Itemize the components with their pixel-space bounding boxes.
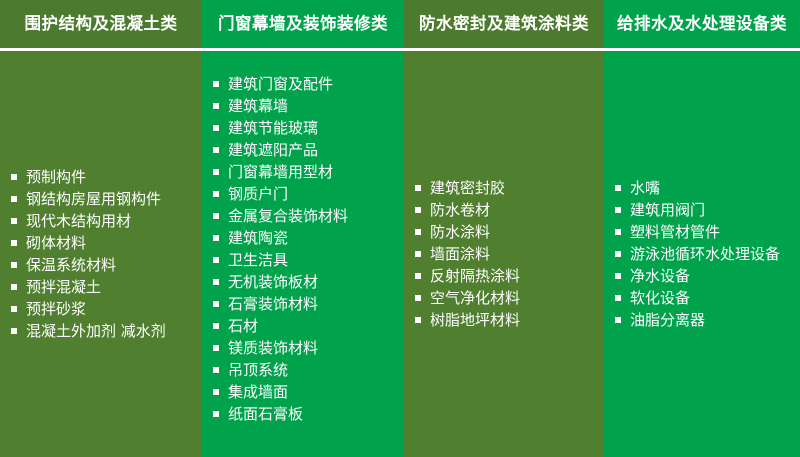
list-item-label: 树脂地坪材料 xyxy=(430,311,520,329)
square-bullet-icon xyxy=(213,169,219,175)
list-item-label: 防水涂料 xyxy=(430,223,490,241)
column-title: 给排水及水处理设备类 xyxy=(617,15,787,33)
list-item-label: 预拌砂浆 xyxy=(26,300,86,318)
column-header-3[interactable]: 给排水及水处理设备类 xyxy=(604,0,800,48)
list-item[interactable]: 软化设备 xyxy=(614,287,794,309)
category-board: 围护结构及混凝土类预制构件钢结构房屋用钢构件现代木结构用材砌体材料保温系统材料预… xyxy=(0,0,800,457)
category-item-list: 建筑门窗及配件建筑幕墙建筑节能玻璃建筑遮阳产品门窗幕墙用型材钢质户门金属复合装饰… xyxy=(212,73,398,425)
list-item-label: 混凝土外加剂 减水剂 xyxy=(26,322,166,340)
column-title: 门窗幕墙及装饰装修类 xyxy=(218,15,388,33)
list-item-label: 建筑密封胶 xyxy=(430,179,505,197)
square-bullet-icon xyxy=(213,389,219,395)
category-column-2: 防水密封及建筑涂料类建筑密封胶防水卷材防水涂料墙面涂料反射隔热涂料空气净化材料树… xyxy=(404,0,604,457)
list-item[interactable]: 防水卷材 xyxy=(414,199,598,221)
list-item[interactable]: 水嘴 xyxy=(614,177,794,199)
list-item-label: 金属复合装饰材料 xyxy=(228,207,348,225)
list-item-label: 塑料管材管件 xyxy=(630,223,720,241)
list-item-label: 防水卷材 xyxy=(430,201,490,219)
list-item[interactable]: 卫生洁具 xyxy=(212,249,398,271)
list-item[interactable]: 钢质户门 xyxy=(212,183,398,205)
square-bullet-icon xyxy=(11,196,17,202)
list-item[interactable]: 石材 xyxy=(212,315,398,337)
column-header-0[interactable]: 围护结构及混凝土类 xyxy=(0,0,202,48)
square-bullet-icon xyxy=(213,191,219,197)
list-item[interactable]: 石膏装饰材料 xyxy=(212,293,398,315)
square-bullet-icon xyxy=(213,257,219,263)
list-item[interactable]: 建筑门窗及配件 xyxy=(212,73,398,95)
list-item-label: 游泳池循环水处理设备 xyxy=(630,245,780,263)
square-bullet-icon xyxy=(415,317,421,323)
list-item[interactable]: 净水设备 xyxy=(614,265,794,287)
square-bullet-icon xyxy=(615,317,621,323)
column-body-1: 建筑门窗及配件建筑幕墙建筑节能玻璃建筑遮阳产品门窗幕墙用型材钢质户门金属复合装饰… xyxy=(202,51,404,457)
list-item-label: 油脂分离器 xyxy=(630,311,705,329)
category-column-0: 围护结构及混凝土类预制构件钢结构房屋用钢构件现代木结构用材砌体材料保温系统材料预… xyxy=(0,0,202,457)
list-item[interactable]: 混凝土外加剂 减水剂 xyxy=(10,320,196,342)
column-title: 防水密封及建筑涂料类 xyxy=(419,15,589,33)
square-bullet-icon xyxy=(11,284,17,290)
list-item-label: 纸面石膏板 xyxy=(228,405,303,423)
square-bullet-icon xyxy=(213,279,219,285)
list-item[interactable]: 建筑遮阳产品 xyxy=(212,139,398,161)
list-item[interactable]: 空气净化材料 xyxy=(414,287,598,309)
square-bullet-icon xyxy=(213,411,219,417)
list-item-label: 卫生洁具 xyxy=(228,251,288,269)
list-item-label: 水嘴 xyxy=(630,179,660,197)
list-item-label: 预制构件 xyxy=(26,168,86,186)
list-item[interactable]: 纸面石膏板 xyxy=(212,403,398,425)
list-item[interactable]: 金属复合装饰材料 xyxy=(212,205,398,227)
square-bullet-icon xyxy=(615,185,621,191)
list-item[interactable]: 集成墙面 xyxy=(212,381,398,403)
list-item[interactable]: 墙面涂料 xyxy=(414,243,598,265)
square-bullet-icon xyxy=(415,295,421,301)
list-item-label: 石材 xyxy=(228,317,258,335)
list-item-label: 建筑幕墙 xyxy=(228,97,288,115)
list-item[interactable]: 预拌砂浆 xyxy=(10,298,196,320)
square-bullet-icon xyxy=(11,262,17,268)
list-item-label: 建筑用阀门 xyxy=(630,201,705,219)
square-bullet-icon xyxy=(415,207,421,213)
square-bullet-icon xyxy=(213,125,219,131)
square-bullet-icon xyxy=(11,240,17,246)
list-item-label: 镁质装饰材料 xyxy=(228,339,318,357)
list-item-label: 净水设备 xyxy=(630,267,690,285)
list-item-label: 建筑陶瓷 xyxy=(228,229,288,247)
list-item-label: 建筑遮阳产品 xyxy=(228,141,318,159)
category-column-1: 门窗幕墙及装饰装修类建筑门窗及配件建筑幕墙建筑节能玻璃建筑遮阳产品门窗幕墙用型材… xyxy=(202,0,404,457)
square-bullet-icon xyxy=(415,185,421,191)
square-bullet-icon xyxy=(615,273,621,279)
list-item[interactable]: 建筑陶瓷 xyxy=(212,227,398,249)
square-bullet-icon xyxy=(213,323,219,329)
list-item-label: 吊顶系统 xyxy=(228,361,288,379)
square-bullet-icon xyxy=(213,345,219,351)
list-item[interactable]: 钢结构房屋用钢构件 xyxy=(10,188,196,210)
list-item[interactable]: 预制构件 xyxy=(10,166,196,188)
list-item-label: 钢质户门 xyxy=(228,185,288,203)
column-body-0: 预制构件钢结构房屋用钢构件现代木结构用材砌体材料保温系统材料预拌混凝土预拌砂浆混… xyxy=(0,51,202,457)
list-item-label: 钢结构房屋用钢构件 xyxy=(26,190,161,208)
category-item-list: 建筑密封胶防水卷材防水涂料墙面涂料反射隔热涂料空气净化材料树脂地坪材料 xyxy=(414,177,598,331)
list-item-label: 现代木结构用材 xyxy=(26,212,131,230)
square-bullet-icon xyxy=(615,295,621,301)
list-item-label: 无机装饰板材 xyxy=(228,273,318,291)
column-header-2[interactable]: 防水密封及建筑涂料类 xyxy=(404,0,604,48)
list-item[interactable]: 预拌混凝土 xyxy=(10,276,196,298)
list-item[interactable]: 树脂地坪材料 xyxy=(414,309,598,331)
square-bullet-icon xyxy=(213,367,219,373)
square-bullet-icon xyxy=(11,306,17,312)
list-item[interactable]: 建筑节能玻璃 xyxy=(212,117,398,139)
square-bullet-icon xyxy=(213,81,219,87)
list-item[interactable]: 无机装饰板材 xyxy=(212,271,398,293)
square-bullet-icon xyxy=(415,251,421,257)
list-item-label: 空气净化材料 xyxy=(430,289,520,307)
column-body-3: 水嘴建筑用阀门塑料管材管件游泳池循环水处理设备净水设备软化设备油脂分离器 xyxy=(604,51,800,457)
list-item-label: 石膏装饰材料 xyxy=(228,295,318,313)
list-item[interactable]: 防水涂料 xyxy=(414,221,598,243)
list-item-label: 建筑门窗及配件 xyxy=(228,75,333,93)
list-item-label: 软化设备 xyxy=(630,289,690,307)
list-item-label: 门窗幕墙用型材 xyxy=(228,163,333,181)
square-bullet-icon xyxy=(415,229,421,235)
list-item[interactable]: 现代木结构用材 xyxy=(10,210,196,232)
square-bullet-icon xyxy=(415,273,421,279)
list-item[interactable]: 保温系统材料 xyxy=(10,254,196,276)
list-item-label: 预拌混凝土 xyxy=(26,278,101,296)
list-item[interactable]: 吊顶系统 xyxy=(212,359,398,381)
list-item-label: 反射隔热涂料 xyxy=(430,267,520,285)
category-column-3: 给排水及水处理设备类水嘴建筑用阀门塑料管材管件游泳池循环水处理设备净水设备软化设… xyxy=(604,0,800,457)
square-bullet-icon xyxy=(615,207,621,213)
list-item-label: 集成墙面 xyxy=(228,383,288,401)
list-item-label: 建筑节能玻璃 xyxy=(228,119,318,137)
list-item[interactable]: 建筑密封胶 xyxy=(414,177,598,199)
list-item[interactable]: 建筑用阀门 xyxy=(614,199,794,221)
column-header-1[interactable]: 门窗幕墙及装饰装修类 xyxy=(202,0,404,48)
square-bullet-icon xyxy=(11,218,17,224)
category-item-list: 预制构件钢结构房屋用钢构件现代木结构用材砌体材料保温系统材料预拌混凝土预拌砂浆混… xyxy=(10,166,196,342)
list-item[interactable]: 塑料管材管件 xyxy=(614,221,794,243)
square-bullet-icon xyxy=(615,229,621,235)
list-item-label: 砌体材料 xyxy=(26,234,86,252)
list-item[interactable]: 镁质装饰材料 xyxy=(212,337,398,359)
list-item[interactable]: 反射隔热涂料 xyxy=(414,265,598,287)
list-item-label: 保温系统材料 xyxy=(26,256,116,274)
square-bullet-icon xyxy=(213,301,219,307)
square-bullet-icon xyxy=(213,103,219,109)
square-bullet-icon xyxy=(213,213,219,219)
square-bullet-icon xyxy=(11,174,17,180)
list-item[interactable]: 油脂分离器 xyxy=(614,309,794,331)
list-item-label: 墙面涂料 xyxy=(430,245,490,263)
list-item[interactable]: 砌体材料 xyxy=(10,232,196,254)
square-bullet-icon xyxy=(615,251,621,257)
square-bullet-icon xyxy=(213,147,219,153)
column-title: 围护结构及混凝土类 xyxy=(25,15,178,33)
list-item[interactable]: 建筑幕墙 xyxy=(212,95,398,117)
list-item[interactable]: 游泳池循环水处理设备 xyxy=(614,243,794,265)
column-body-2: 建筑密封胶防水卷材防水涂料墙面涂料反射隔热涂料空气净化材料树脂地坪材料 xyxy=(404,51,604,457)
square-bullet-icon xyxy=(213,235,219,241)
category-item-list: 水嘴建筑用阀门塑料管材管件游泳池循环水处理设备净水设备软化设备油脂分离器 xyxy=(614,177,794,331)
list-item[interactable]: 门窗幕墙用型材 xyxy=(212,161,398,183)
square-bullet-icon xyxy=(11,328,17,334)
